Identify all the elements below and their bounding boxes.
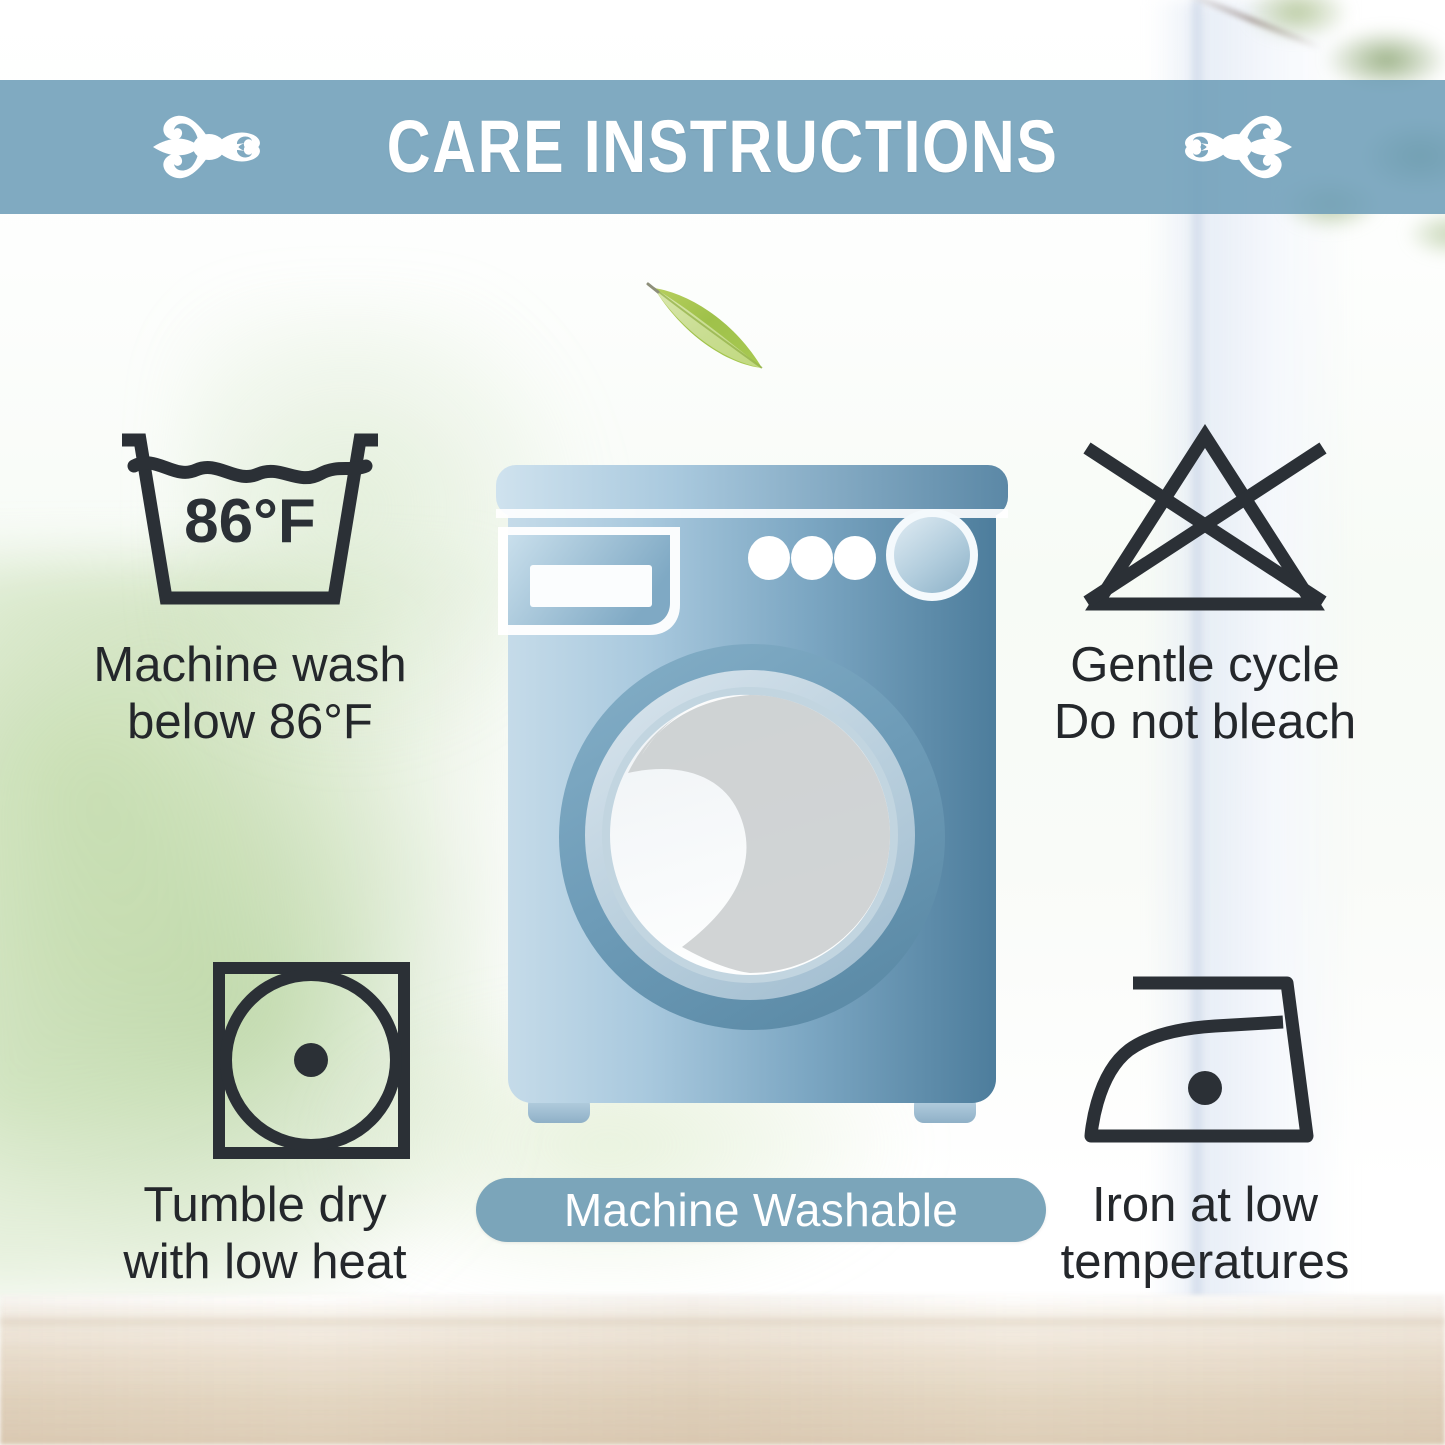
washing-machine-illustration [482, 455, 1022, 1135]
machine-door [559, 644, 945, 1030]
control-dot-a [748, 536, 790, 580]
care-symbol-do-not-bleach: Gentle cycle Do not bleach [975, 415, 1435, 752]
iron-low-temperature-icon [975, 955, 1435, 1165]
care-caption-tumble-dry: Tumble dry with low heat [35, 1177, 495, 1292]
control-dot-c [834, 536, 876, 580]
care-caption-do-not-bleach: Gentle cycle Do not bleach [975, 637, 1435, 752]
fleur-de-lis-icon-left [147, 104, 279, 190]
background-table-edge [0, 1317, 1445, 1327]
control-dot-b [791, 536, 833, 580]
fleur-de-lis-icon-right [1166, 104, 1298, 190]
care-symbol-iron: Iron at low temperatures [975, 955, 1435, 1292]
green-leaf-icon [640, 272, 790, 382]
do-not-bleach-triangle-icon [975, 415, 1435, 625]
care-caption-machine-wash: Machine wash below 86°F [20, 637, 480, 752]
tumble-dry-low-icon [35, 955, 495, 1165]
dial-knob [886, 509, 978, 601]
care-instructions-graphic: CARE INSTRUCTIONS [0, 0, 1445, 1445]
machine-washable-label: Machine Washable [564, 1187, 958, 1233]
care-symbol-machine-wash: 86°F Machine wash below 86°F [20, 415, 480, 752]
detergent-drawer [498, 527, 680, 635]
care-caption-iron: Iron at low temperatures [975, 1177, 1435, 1292]
care-symbol-tumble-dry: Tumble dry with low heat [35, 955, 495, 1292]
wash-temperature-value: 86°F [184, 487, 316, 556]
header-banner: CARE INSTRUCTIONS [0, 80, 1445, 214]
machine-washable-badge: Machine Washable [476, 1178, 1046, 1242]
wash-tub-icon: 86°F [20, 415, 480, 625]
detergent-drawer-slot [530, 565, 652, 607]
page-title: CARE INSTRUCTIONS [387, 110, 1059, 184]
